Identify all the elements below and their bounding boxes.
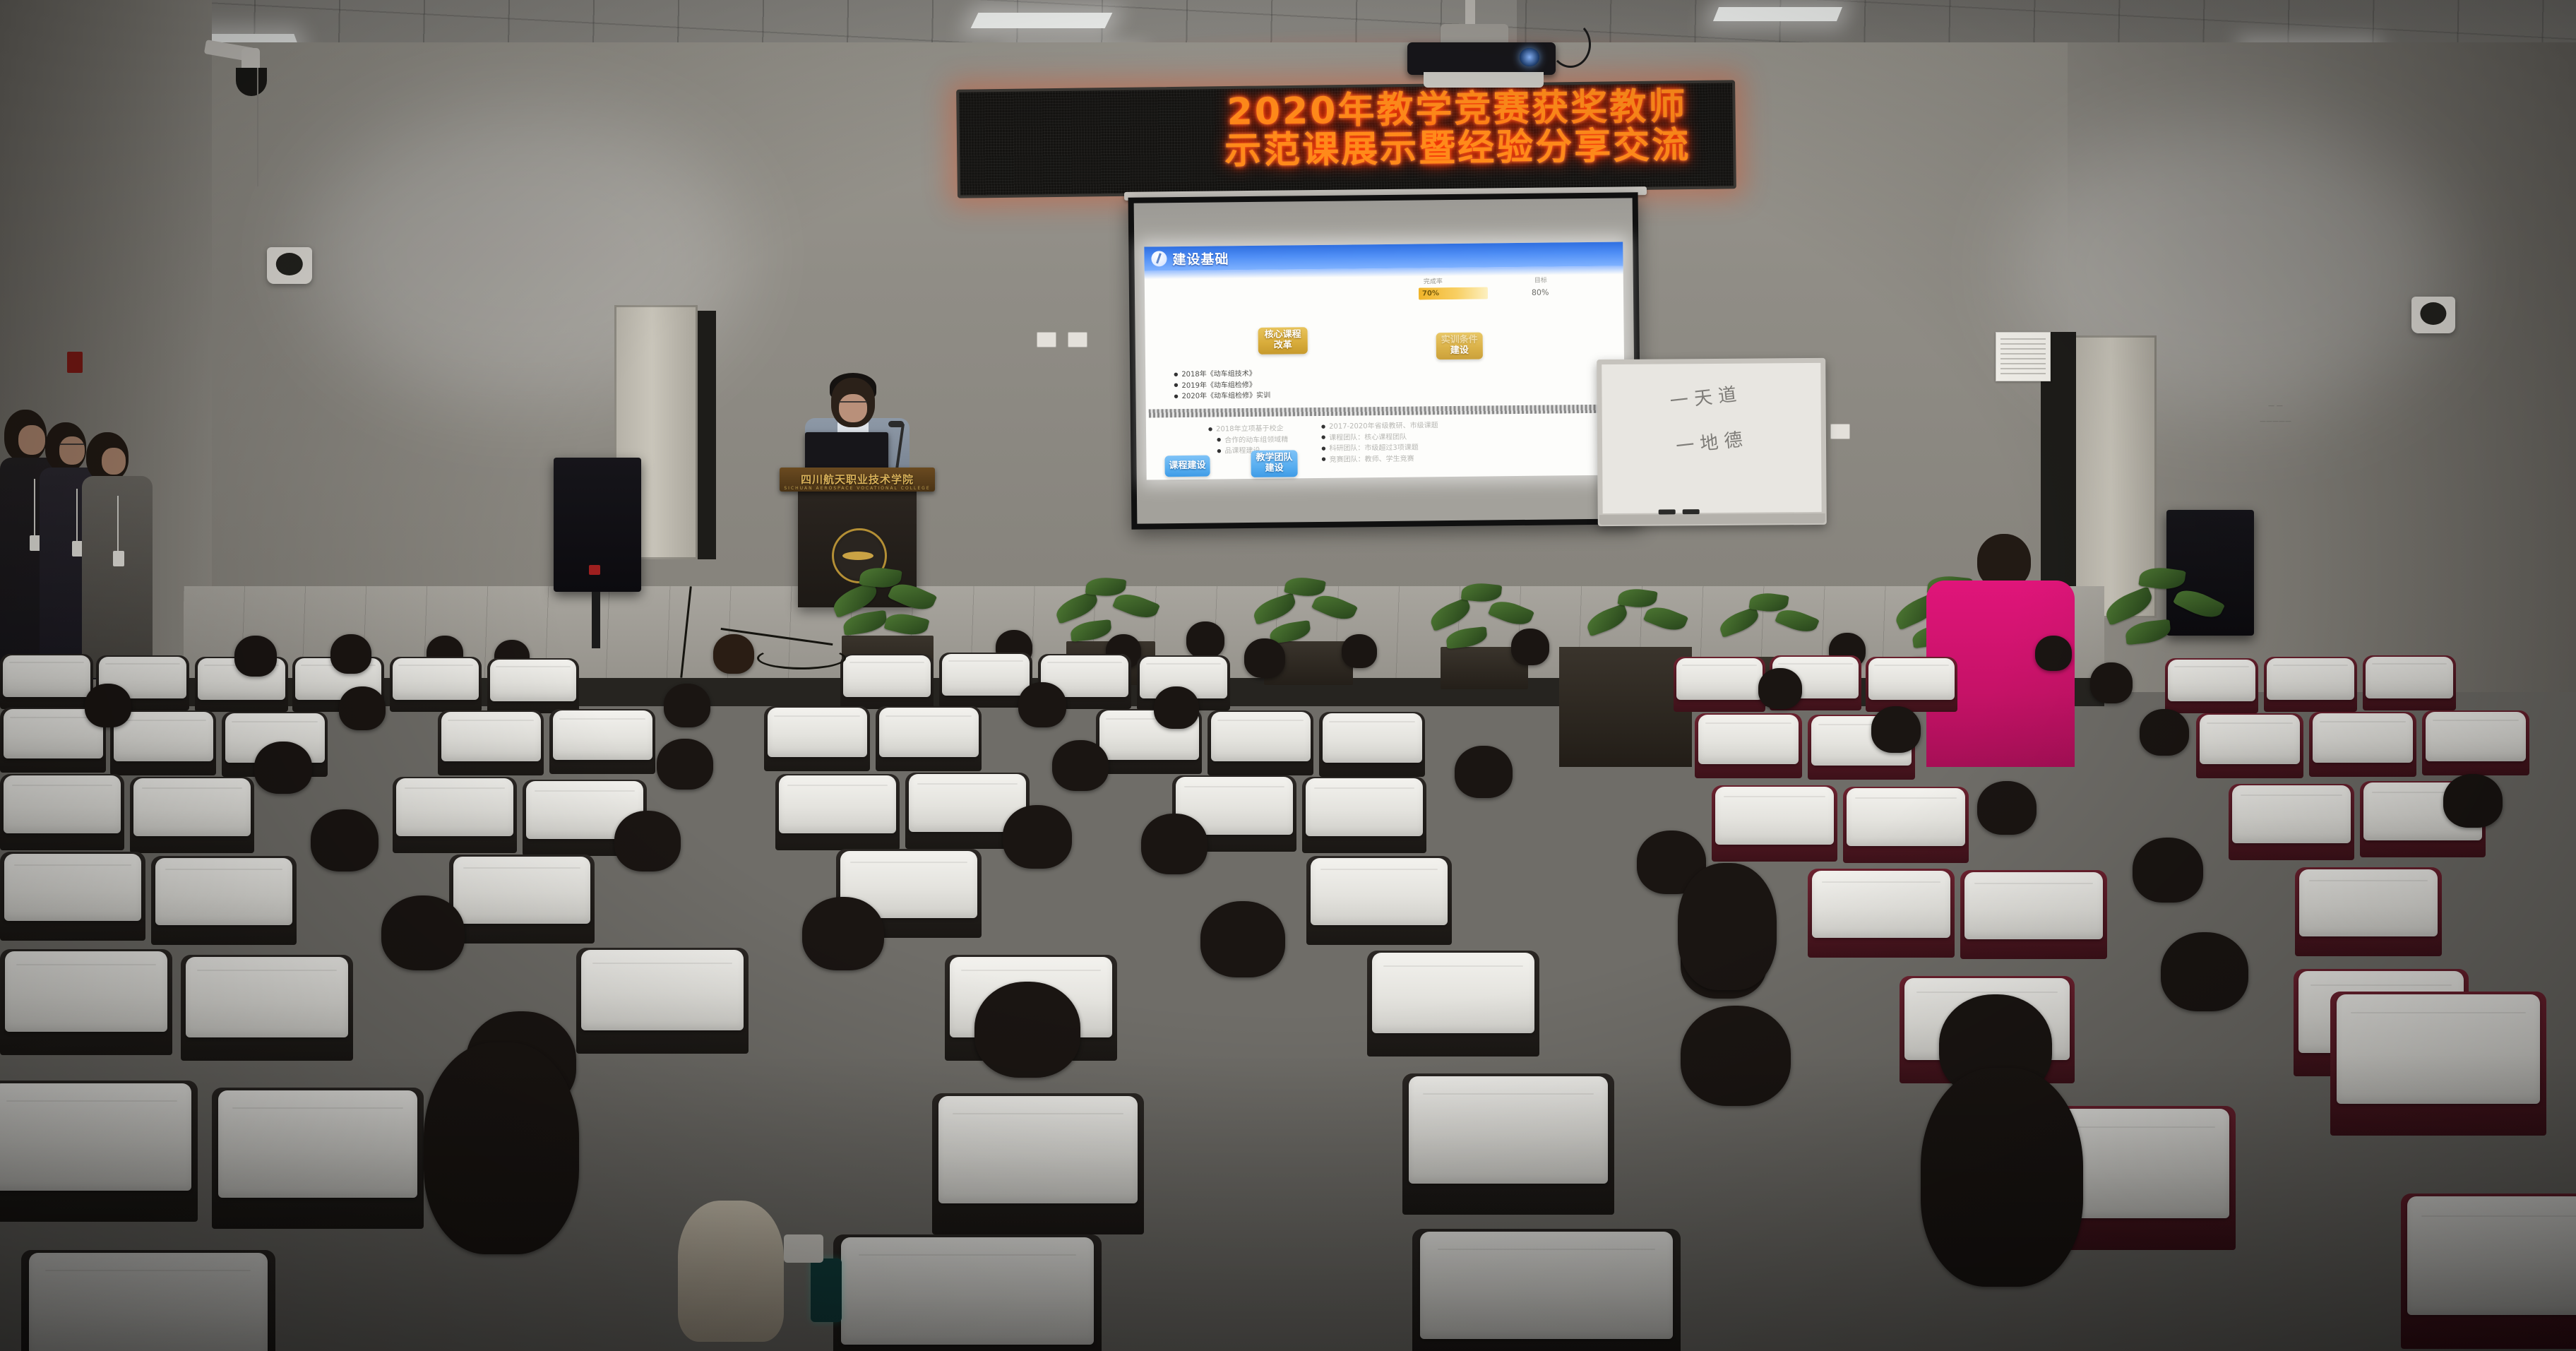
- potted-plant: [2096, 558, 2234, 661]
- slide-blue-box-left: 课程建设: [1164, 456, 1210, 477]
- leaf: [1584, 604, 1630, 637]
- chair: [151, 856, 297, 945]
- audience-head: [1511, 629, 1549, 665]
- wall-speaker-left: [267, 247, 312, 284]
- progress-bar-primary: 70%: [1419, 287, 1488, 299]
- list-item: 2020年《动车组检修》实训: [1174, 391, 1270, 403]
- chair: [2264, 657, 2357, 712]
- audience-head: [1758, 668, 1802, 709]
- slide-body: 完成率 目标 70% 80% 核心课程 改革 实训条件 建设: [1145, 266, 1626, 480]
- audience-head: [2035, 636, 2072, 671]
- chair: [2165, 658, 2258, 713]
- chair: [775, 774, 900, 850]
- chair: [0, 1081, 198, 1222]
- projector-lens-icon: [1520, 48, 1539, 66]
- projector-underside: [1424, 72, 1544, 88]
- progress-secondary-value: 80%: [1532, 288, 1549, 297]
- progress-primary-caption: 完成率: [1424, 276, 1443, 285]
- projector-cable: [1550, 21, 1591, 68]
- list-item: 2017-2020年省级教研、市级课题: [1321, 420, 1438, 432]
- lecture-hall-photo: 2020年教学竞赛获奖教师 示范课展示暨经验分享交流 — — —————: [0, 0, 2576, 1351]
- podium-institution-pinyin: SICHUAN AEROSPACE VOCATIONAL COLLEGE: [780, 486, 935, 491]
- chair: [932, 1093, 1144, 1234]
- audience-head-foreground: [424, 1042, 579, 1254]
- chair: [1712, 785, 1837, 862]
- audience-head: [1141, 814, 1207, 874]
- ceiling-light-panel: [1713, 7, 1842, 21]
- progress-secondary-caption: 目标: [1534, 275, 1547, 285]
- audience-head: [1154, 686, 1199, 729]
- chair: [2309, 712, 2416, 777]
- leaf: [1427, 597, 1474, 631]
- chair: [438, 710, 544, 775]
- whiteboard: 一 天 道 一 地 德: [1597, 358, 1827, 526]
- list-item: 2018年《动车组技术》: [1174, 369, 1270, 381]
- progress-primary-value: 70%: [1419, 290, 1439, 297]
- audience-head: [713, 634, 754, 674]
- speaker-brand-logo: [589, 565, 600, 575]
- audience-head: [311, 809, 378, 871]
- camera-wire: [257, 68, 258, 186]
- chair: [1402, 1073, 1614, 1215]
- glasses-icon: [839, 401, 867, 408]
- slide-divider: [1149, 404, 1622, 417]
- wall-outlet: [1037, 332, 1056, 347]
- presenter-face: [839, 394, 867, 422]
- leaf: [1311, 590, 1358, 625]
- chair: [0, 852, 145, 941]
- leaf: [1445, 626, 1488, 649]
- whiteboard-tray: [1599, 513, 1825, 525]
- chair: [1302, 777, 1426, 853]
- chair: [0, 654, 93, 709]
- chair: [1674, 657, 1765, 712]
- list-item: 竞赛团队：教师、学生竞赛: [1321, 453, 1438, 465]
- audience-head: [234, 636, 277, 677]
- lanyard: [34, 479, 35, 535]
- chair: [1319, 712, 1425, 777]
- audience-head: [2161, 932, 2248, 1011]
- whiteboard-ink-line1: 一 天 道: [1669, 380, 1738, 413]
- projection-screen-surface: 建设基础 完成率 目标 70% 80% 核心课程 改革: [1134, 198, 1636, 523]
- chair: [0, 774, 124, 850]
- podium-institution-name: 四川航天职业技术学院: [780, 472, 935, 487]
- led-banner: 2020年教学竞赛获奖教师 示范课展示暨经验分享交流: [956, 80, 1736, 198]
- chair: [130, 777, 254, 853]
- potted-plant: [825, 558, 952, 650]
- audience-head: [974, 982, 1080, 1078]
- audience-head-foreground: [1678, 863, 1777, 990]
- gold-box-left-line2: 改革: [1274, 340, 1292, 351]
- wall-speaker-right: [2411, 297, 2455, 333]
- audience-head: [2140, 709, 2189, 756]
- blue-box-right-line2: 建设: [1265, 464, 1284, 475]
- chair: [0, 949, 172, 1055]
- attendee-phone-2: [784, 1234, 823, 1263]
- whiteboard-ink-line2: 一 地 德: [1674, 425, 1743, 458]
- audience-head: [2443, 774, 2503, 828]
- id-badge: [113, 551, 124, 566]
- blue-box-right-line1: 教学团队: [1256, 453, 1292, 463]
- chair: [2330, 992, 2546, 1136]
- audience-head: [1186, 621, 1224, 658]
- chair: [576, 948, 749, 1054]
- audience-head: [1342, 634, 1377, 668]
- slide-title: 建设基础: [1172, 249, 1229, 268]
- leaf: [884, 609, 930, 639]
- audience-head: [1018, 682, 1066, 727]
- chair: [833, 1234, 1102, 1351]
- chair: [21, 1250, 275, 1351]
- leaf: [2125, 619, 2172, 645]
- attendee-sleeve: [678, 1201, 784, 1342]
- audience-head: [1200, 901, 1285, 977]
- slide-bullets-lower-right: 2017-2020年省级教研、市级课题 课程团队：核心课程团队 科研团队：市级超…: [1321, 420, 1438, 465]
- slide-blue-box-right: 教学团队 建设: [1251, 450, 1297, 477]
- audience-head: [664, 684, 710, 727]
- chair: [212, 1088, 424, 1229]
- chair: [876, 706, 982, 771]
- person-face: [59, 436, 85, 465]
- chair: [2422, 710, 2529, 775]
- chair: [1808, 869, 1955, 958]
- door-left-opening: [698, 311, 716, 559]
- slide-gold-box-right: 实训条件 建设: [1436, 333, 1483, 360]
- wall-outlet: [1830, 424, 1850, 439]
- whiteboard-surface: 一 天 道 一 地 德: [1602, 363, 1821, 513]
- leaf: [2173, 584, 2225, 624]
- person-face: [102, 448, 126, 475]
- blue-box-left-line1: 课程建设: [1169, 460, 1205, 471]
- audience-head-foreground: [1921, 1068, 2083, 1287]
- chair: [2363, 655, 2456, 710]
- list-item: 课程团队：核心课程团队: [1321, 432, 1438, 444]
- leaf: [1717, 607, 1761, 638]
- audience-head: [339, 686, 386, 730]
- leaf: [2102, 586, 2157, 626]
- chair: [487, 658, 579, 713]
- gold-box-left-line1: 核心课程: [1265, 330, 1301, 340]
- chair: [1960, 870, 2107, 959]
- chair: [2229, 784, 2354, 860]
- side-table: [1559, 647, 1692, 767]
- audience-head: [330, 634, 371, 674]
- audience-head: [2133, 838, 2203, 903]
- pa-speaker-stand: [592, 592, 600, 648]
- audience-head: [254, 742, 312, 794]
- attendee-phone: [811, 1258, 842, 1322]
- lanyard: [117, 496, 119, 551]
- audience-head: [85, 684, 131, 727]
- audience-head: [1681, 1006, 1791, 1106]
- leaf: [1070, 619, 1112, 642]
- chair: [1695, 713, 1802, 778]
- chair: [1207, 710, 1313, 775]
- chair: [390, 657, 482, 712]
- poster-text-lines: [2000, 338, 2046, 376]
- lanyard: [76, 489, 78, 541]
- projection-screen: 建设基础 完成率 目标 70% 80% 核心课程 改革: [1128, 192, 1642, 530]
- wall-notice-poster: [1996, 332, 2051, 381]
- chair: [393, 777, 517, 853]
- leaf: [1488, 596, 1534, 630]
- glasses-icon: [59, 444, 85, 451]
- chair: [764, 706, 870, 771]
- chair: [1866, 657, 1957, 712]
- chair: [1843, 787, 1969, 863]
- standing-person-3: [82, 432, 169, 678]
- audience-head: [1977, 781, 2037, 835]
- slide-bullets-left: 2018年《动车组技术》 2019年《动车组检修》 2020年《动车组检修》实训: [1174, 369, 1270, 403]
- chair: [181, 955, 353, 1061]
- slide-gold-box-left: 核心课程 改革: [1258, 327, 1307, 355]
- wall-outlet: [1068, 332, 1087, 347]
- chair: [2295, 867, 2442, 956]
- audience-head: [657, 739, 713, 790]
- chair: [1306, 856, 1452, 945]
- presentation-slide: 建设基础 完成率 目标 70% 80% 核心课程 改革: [1144, 242, 1625, 480]
- slide-pencil-icon: [1151, 251, 1167, 266]
- chair: [2196, 713, 2303, 778]
- led-banner-line2: 示范课展示暨经验分享交流: [1189, 126, 1727, 172]
- wall-label-right: — —: [2268, 403, 2283, 410]
- chair: [1367, 951, 1539, 1057]
- chair: [549, 709, 655, 774]
- audience-head: [1003, 805, 1072, 869]
- chair: [2401, 1194, 2576, 1349]
- pa-speaker-left: [554, 458, 641, 592]
- led-banner-text: 2020年教学竞赛获奖教师 示范课展示暨经验分享交流: [1188, 87, 1726, 171]
- audience-head: [381, 895, 465, 970]
- audience-head: [1455, 746, 1513, 798]
- gold-box-right-line2: 建设: [1450, 346, 1469, 357]
- wall-label-right-2: —————: [2260, 418, 2291, 425]
- leaf: [842, 610, 888, 636]
- audience-head: [1244, 638, 1285, 678]
- list-item: 2019年《动车组检修》: [1174, 379, 1270, 391]
- chair: [1412, 1229, 1681, 1351]
- progress-bar-primary-fill: 70%: [1419, 287, 1488, 299]
- chair: [840, 654, 934, 709]
- gold-box-right-line1: 实训条件: [1441, 335, 1478, 346]
- speaker-cone-icon: [276, 253, 303, 275]
- audience-head: [614, 811, 681, 871]
- audience-head: [2090, 662, 2133, 703]
- leaf: [1251, 593, 1299, 625]
- chair: [449, 855, 595, 944]
- list-item: 2018年立项基于校企: [1208, 423, 1288, 435]
- floor-cable: [757, 647, 846, 669]
- leaf: [1053, 590, 1101, 624]
- speaker-cone-icon: [2420, 302, 2446, 325]
- ceiling-light-panel: [971, 13, 1113, 28]
- audience-head: [1871, 706, 1921, 753]
- leaf: [1643, 602, 1688, 636]
- audience-head: [802, 897, 884, 970]
- audience-head: [1052, 740, 1109, 791]
- list-item: 科研团队：市级超过3项课题: [1321, 442, 1438, 454]
- list-item: 合作的动车组领域精: [1208, 434, 1288, 446]
- wall-marker-left: [67, 352, 83, 373]
- leaf: [1112, 588, 1160, 623]
